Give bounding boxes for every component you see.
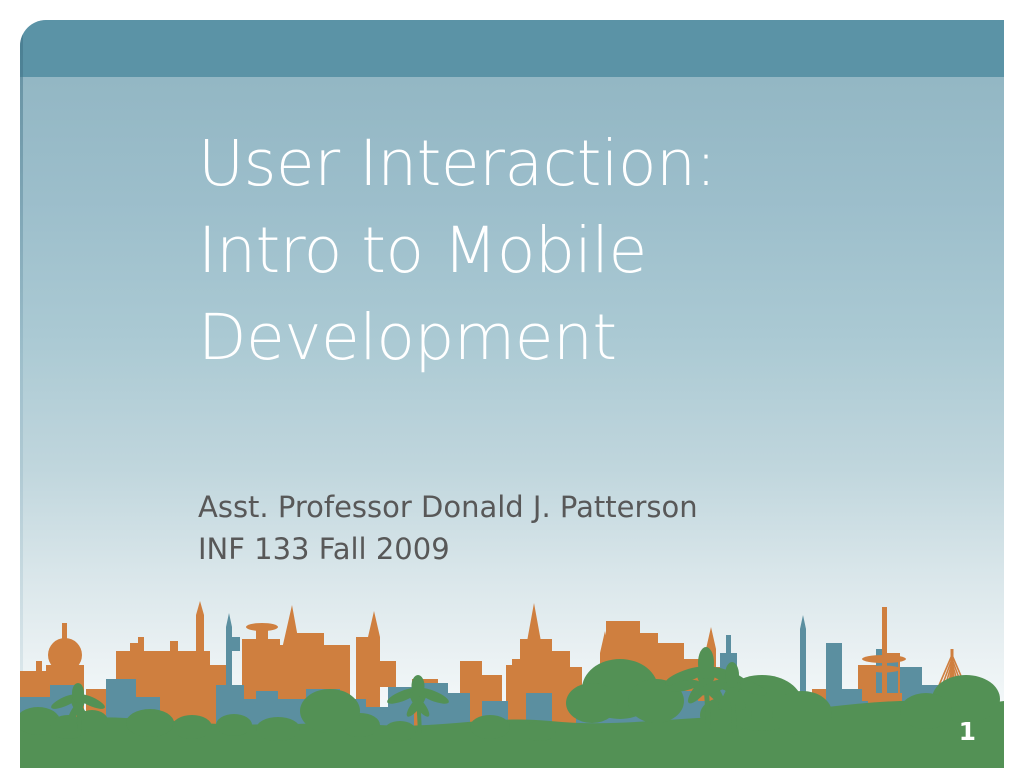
slide-number: 1 — [959, 719, 976, 744]
slide-subtitle: Asst. Professor Donald J. Patterson INF … — [198, 486, 898, 570]
header-band — [20, 20, 1004, 77]
presentation-slide: User Interaction: Intro to Mobile Develo… — [0, 0, 1024, 768]
title-line-3: Development — [198, 294, 898, 381]
title-line-1: User Interaction: — [198, 120, 898, 207]
slide-title: User Interaction: Intro to Mobile Develo… — [198, 120, 898, 381]
subtitle-line-presenter: Asst. Professor Donald J. Patterson — [198, 486, 898, 528]
slide-canvas: User Interaction: Intro to Mobile Develo… — [20, 20, 1004, 768]
subtitle-line-course: INF 133 Fall 2009 — [198, 528, 898, 570]
city-skyline-illustration — [20, 593, 1004, 768]
title-line-2: Intro to Mobile — [198, 207, 898, 294]
